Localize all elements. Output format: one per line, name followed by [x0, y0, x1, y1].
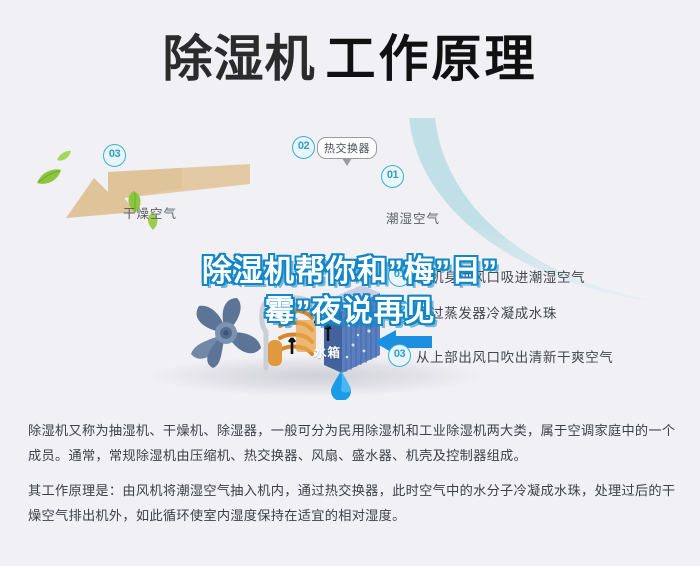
fan-icon: [183, 290, 269, 376]
label-dry-air: 干燥空气: [123, 203, 177, 222]
step-marker-03: 03: [388, 344, 411, 367]
header: 除湿机 工作原理: [0, 0, 700, 118]
heat-exchanger-icon: [318, 281, 382, 377]
step-text-01: 由机身进风口吸进潮湿空气: [416, 266, 585, 286]
step-item-01: 01 由机身进风口吸进潮湿空气: [388, 264, 585, 287]
page-title-part-a: 除湿机: [163, 34, 316, 84]
article-body: 除湿机又称为抽湿机、干燥机、除湿器，一般可分为民用除湿机和工业除湿机两大类，属于…: [28, 418, 676, 528]
leaf-icon: [56, 150, 72, 162]
water-drop-icon: [330, 370, 352, 400]
marker-01-humid-air: 01: [381, 165, 404, 188]
label-humid-air: 潮湿空气: [386, 208, 440, 227]
label-water-tank: 水箱: [314, 342, 341, 361]
step-text-03: 从上部出风口吹出清新干爽空气: [416, 346, 613, 366]
page-title: 除湿机 工作原理: [163, 34, 538, 84]
marker-03-dry-air: 03: [103, 144, 126, 167]
infographic-page: 除湿机 工作原理: [0, 0, 700, 566]
step-marker-01: 01: [388, 264, 411, 287]
step-item-02: 02 经过蒸发器冷凝成水珠: [388, 300, 557, 323]
article-paragraph-1: 除湿机又称为抽湿机、干燥机、除湿器，一般可分为民用除湿机和工业除湿机两大类，属于…: [28, 418, 676, 468]
dry-air-arrow-icon: [62, 154, 252, 246]
step-text-02: 经过蒸发器冷凝成水珠: [416, 302, 557, 322]
leaf-icon: [36, 168, 62, 186]
label-heat-exchanger: 热交换器: [317, 137, 377, 159]
marker-02-heat-exchanger: 02: [292, 136, 315, 159]
step-marker-02: 02: [388, 300, 411, 323]
page-title-part-b: 工作原理: [326, 34, 538, 84]
humid-air-swoosh-icon: [409, 118, 700, 322]
step-item-03: 03 从上部出风口吹出清新干爽空气: [388, 344, 613, 367]
article-paragraph-2: 其工作原理是：由风机将潮湿空气抽入机内，通过热交换器，此时空气中的水分子冷凝成水…: [28, 478, 676, 528]
